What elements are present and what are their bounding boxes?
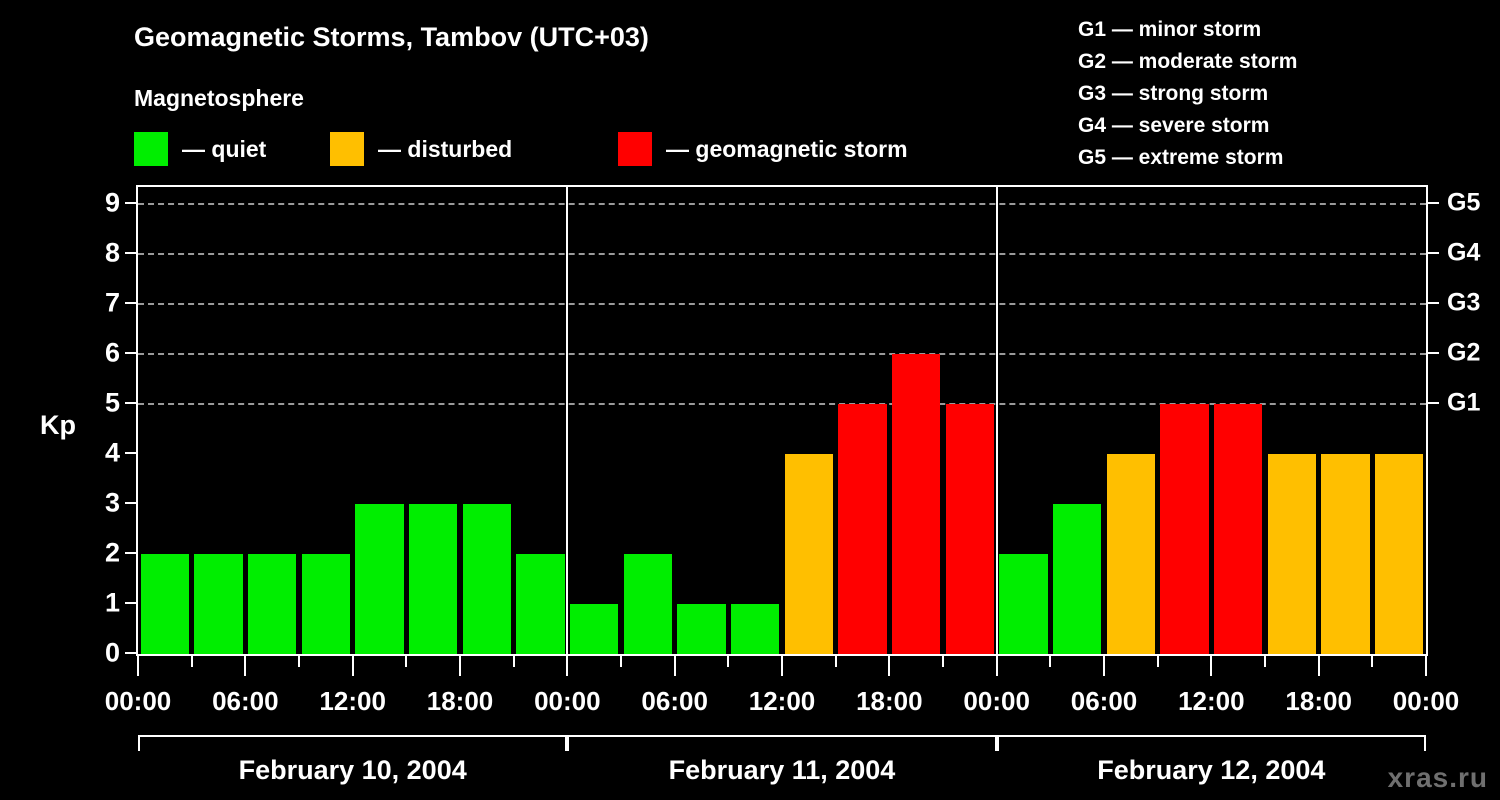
- gridline-kp-6: [138, 353, 1426, 355]
- y-tick-4: [125, 452, 136, 454]
- x-tick-minor: [513, 656, 515, 667]
- bar[interactable]: [516, 554, 565, 654]
- x-tick-major: [674, 656, 676, 676]
- date-label: February 10, 2004: [239, 755, 467, 786]
- x-tick-label: 12:00: [319, 686, 386, 717]
- bar[interactable]: [1214, 404, 1263, 654]
- x-tick-major: [244, 656, 246, 676]
- bar[interactable]: [838, 404, 887, 654]
- bar[interactable]: [1160, 404, 1209, 654]
- g-level-label: G1: [1447, 389, 1480, 418]
- x-tick-minor: [1371, 656, 1373, 667]
- bar[interactable]: [1375, 454, 1424, 654]
- bar[interactable]: [1321, 454, 1370, 654]
- x-tick-major: [459, 656, 461, 676]
- date-label: February 11, 2004: [669, 755, 896, 786]
- g-tick-G5: [1428, 202, 1439, 204]
- bar[interactable]: [1268, 454, 1317, 654]
- g-tick-G3: [1428, 302, 1439, 304]
- g-level-label: G3: [1447, 289, 1480, 318]
- y-tick-label: 1: [105, 588, 120, 619]
- bar[interactable]: [677, 604, 726, 654]
- legend-item-label: — geomagnetic storm: [666, 136, 908, 163]
- plot-inner: [138, 187, 1426, 654]
- orange-swatch-icon: [330, 132, 364, 166]
- plot-area: [136, 185, 1428, 656]
- bar[interactable]: [999, 554, 1048, 654]
- x-tick-minor: [1157, 656, 1159, 667]
- y-axis-title: Kp: [40, 410, 76, 441]
- y-tick-label: 7: [105, 288, 120, 319]
- y-tick-label: 0: [105, 638, 120, 669]
- date-label: February 12, 2004: [1097, 755, 1325, 786]
- x-tick-major: [1103, 656, 1105, 676]
- g-tick-G4: [1428, 252, 1439, 254]
- g-scale-row: G4 — severe storm: [1078, 110, 1297, 142]
- x-tick-minor: [835, 656, 837, 667]
- g-scale-row: G2 — moderate storm: [1078, 46, 1297, 78]
- x-tick-minor: [191, 656, 193, 667]
- x-tick-label: 18:00: [1285, 686, 1352, 717]
- y-tick-label: 8: [105, 238, 120, 269]
- chart-root: Geomagnetic Storms, Tambov (UTC+03) Magn…: [0, 0, 1500, 800]
- x-tick-minor: [727, 656, 729, 667]
- legend-item[interactable]: — disturbed: [330, 132, 512, 166]
- g-scale-legend: G1 — minor stormG2 — moderate stormG3 — …: [1078, 14, 1297, 174]
- x-tick-major: [781, 656, 783, 676]
- bar[interactable]: [463, 504, 512, 654]
- y-tick-label: 9: [105, 188, 120, 219]
- bar[interactable]: [946, 404, 995, 654]
- date-bracket: [138, 735, 567, 751]
- page-title: Geomagnetic Storms, Tambov (UTC+03): [134, 22, 649, 53]
- bar[interactable]: [141, 554, 190, 654]
- x-tick-label: 00:00: [963, 686, 1030, 717]
- y-tick-7: [125, 302, 136, 304]
- y-tick-8: [125, 252, 136, 254]
- y-tick-3: [125, 502, 136, 504]
- bar[interactable]: [570, 604, 619, 654]
- y-tick-9: [125, 202, 136, 204]
- g-scale-row: G3 — strong storm: [1078, 78, 1297, 110]
- x-tick-minor: [620, 656, 622, 667]
- x-tick-major: [1318, 656, 1320, 676]
- chart-subtitle: Magnetosphere: [134, 85, 304, 112]
- x-tick-major: [888, 656, 890, 676]
- bar[interactable]: [355, 504, 404, 654]
- x-tick-major: [996, 656, 998, 676]
- x-tick-label: 00:00: [105, 686, 172, 717]
- day-separator-2: [996, 187, 998, 654]
- bar[interactable]: [248, 554, 297, 654]
- x-tick-major: [352, 656, 354, 676]
- date-bracket: [997, 735, 1426, 751]
- day-separator-1: [566, 187, 568, 654]
- x-tick-label: 18:00: [427, 686, 494, 717]
- y-tick-label: 3: [105, 488, 120, 519]
- x-tick-label: 12:00: [749, 686, 816, 717]
- g-scale-row: G1 — minor storm: [1078, 14, 1297, 46]
- x-tick-label: 00:00: [534, 686, 601, 717]
- watermark: xras.ru: [1388, 762, 1488, 794]
- x-tick-major: [566, 656, 568, 676]
- x-tick-minor: [1264, 656, 1266, 667]
- legend-item[interactable]: — geomagnetic storm: [618, 132, 908, 166]
- g-scale-row: G5 — extreme storm: [1078, 142, 1297, 174]
- bar[interactable]: [194, 554, 243, 654]
- y-tick-label: 5: [105, 388, 120, 419]
- x-tick-major: [1210, 656, 1212, 676]
- y-tick-1: [125, 602, 136, 604]
- g-level-label: G2: [1447, 339, 1480, 368]
- gridline-kp-7: [138, 303, 1426, 305]
- g-level-label: G4: [1447, 239, 1480, 268]
- x-tick-major: [1425, 656, 1427, 676]
- x-tick-minor: [1049, 656, 1051, 667]
- g-level-label: G5: [1447, 189, 1480, 218]
- legend-item-label: — quiet: [182, 136, 266, 163]
- bar[interactable]: [409, 504, 458, 654]
- y-tick-6: [125, 352, 136, 354]
- red-swatch-icon: [618, 132, 652, 166]
- legend-item-label: — disturbed: [378, 136, 512, 163]
- bar[interactable]: [892, 354, 941, 654]
- x-tick-label: 06:00: [641, 686, 708, 717]
- gridline-kp-8: [138, 253, 1426, 255]
- y-tick-2: [125, 552, 136, 554]
- bar[interactable]: [1053, 504, 1102, 654]
- y-tick-0: [125, 652, 136, 654]
- x-tick-minor: [298, 656, 300, 667]
- x-tick-label: 06:00: [1071, 686, 1138, 717]
- x-tick-label: 00:00: [1393, 686, 1460, 717]
- y-tick-label: 4: [105, 438, 120, 469]
- legend-item[interactable]: — quiet: [134, 132, 266, 166]
- date-bracket: [567, 735, 996, 751]
- y-tick-5: [125, 402, 136, 404]
- x-tick-minor: [942, 656, 944, 667]
- y-tick-label: 6: [105, 338, 120, 369]
- gridline-kp-9: [138, 203, 1426, 205]
- bar[interactable]: [731, 604, 780, 654]
- bar[interactable]: [302, 554, 351, 654]
- x-tick-minor: [405, 656, 407, 667]
- bar[interactable]: [1107, 454, 1156, 654]
- x-tick-label: 12:00: [1178, 686, 1245, 717]
- bar[interactable]: [785, 454, 834, 654]
- y-tick-label: 2: [105, 538, 120, 569]
- x-tick-label: 18:00: [856, 686, 923, 717]
- x-tick-major: [137, 656, 139, 676]
- g-tick-G2: [1428, 352, 1439, 354]
- green-swatch-icon: [134, 132, 168, 166]
- bar[interactable]: [624, 554, 673, 654]
- g-tick-G1: [1428, 402, 1439, 404]
- x-tick-label: 06:00: [212, 686, 279, 717]
